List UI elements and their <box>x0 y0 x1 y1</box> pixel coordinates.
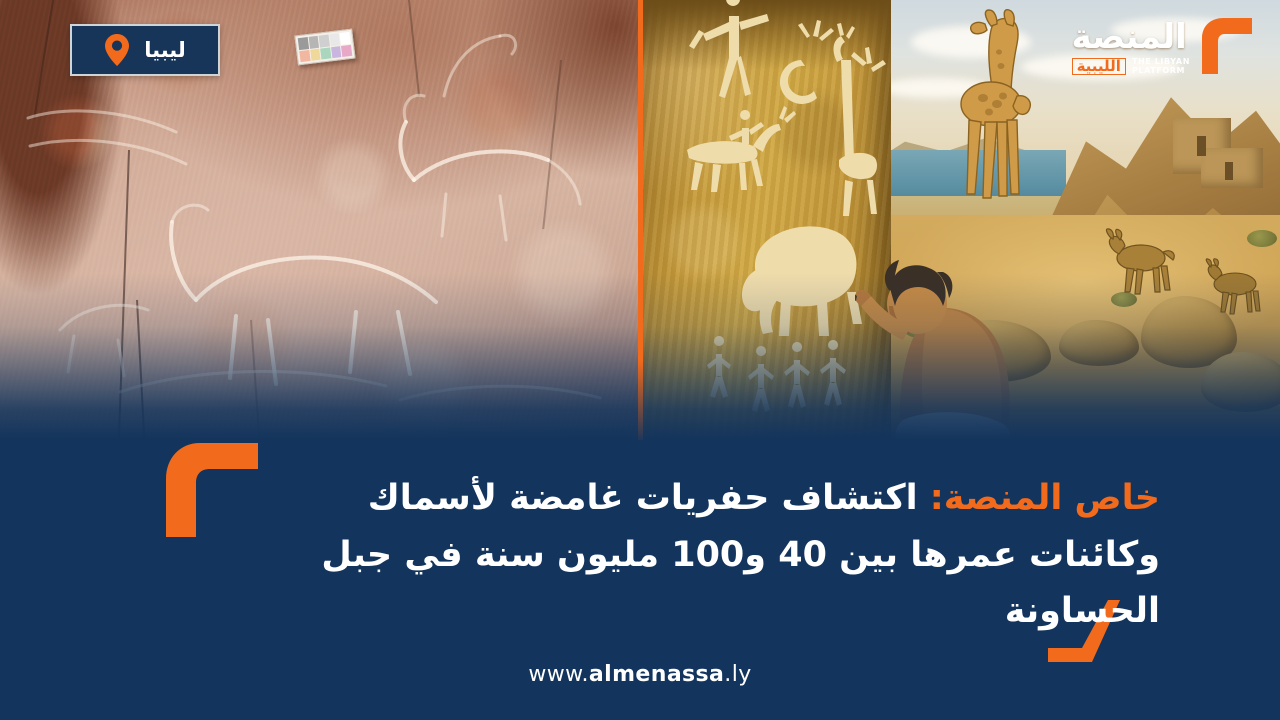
desert-bush <box>1247 230 1277 247</box>
url-suffix: .ly <box>724 662 751 687</box>
artist-figure <box>855 248 1085 440</box>
quote-open-mark-icon <box>166 443 258 537</box>
headline-kicker: خاص المنصة: <box>930 478 1160 518</box>
rock-art-engravings <box>641 0 891 440</box>
logo-english-name: THE LIBYAN PLATFORM <box>1132 57 1190 75</box>
logo-english-line1: THE LIBYAN <box>1132 57 1190 66</box>
url-prefix: www. <box>528 662 589 687</box>
location-badge: ليبيا <box>70 24 220 76</box>
location-badge-label: ليبيا <box>144 40 186 61</box>
url-brand: almenassa <box>589 662 724 687</box>
image-divider <box>638 0 643 440</box>
logo-arabic-subtitle: الليبية <box>1072 58 1126 75</box>
site-logo[interactable]: المنصة THE LIBYAN PLATFORM الليبية <box>1072 16 1258 76</box>
boulder <box>1201 352 1280 412</box>
building-window <box>1197 136 1206 156</box>
site-url[interactable]: www.almenassa.ly <box>0 662 1280 687</box>
orange-bracket-mark-icon <box>1196 16 1258 76</box>
building-window <box>1225 162 1233 180</box>
headline: خاص المنصة: اكتشاف حفريات غامضة لأسماك و… <box>250 470 1160 640</box>
map-pin-icon <box>104 33 130 67</box>
gazelle-figure <box>1093 228 1185 310</box>
logo-arabic-name: المنصة <box>1072 20 1187 54</box>
gazelle-figure <box>1193 258 1271 328</box>
news-card: ليبيا المنصة THE LIBYAN PLATFORM الليبية… <box>0 0 1280 720</box>
giraffe-figure <box>941 8 1071 278</box>
logo-english-line2: PLATFORM <box>1132 66 1185 75</box>
